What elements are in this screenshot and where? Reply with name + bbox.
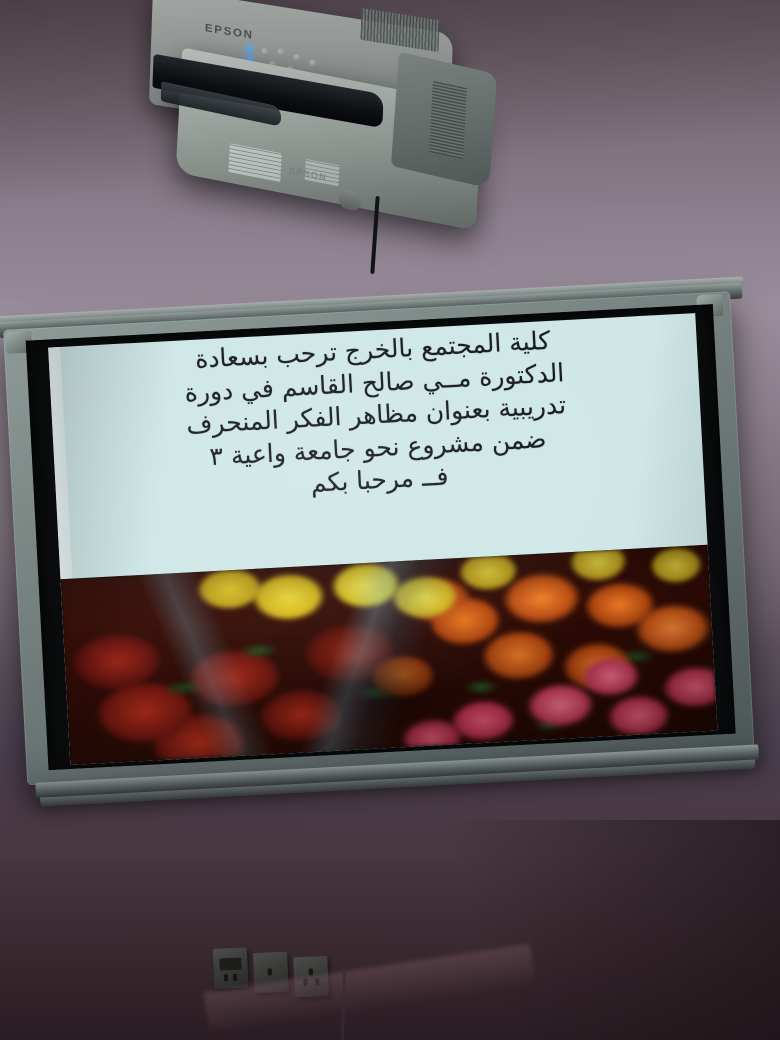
projector-button[interactable] bbox=[309, 59, 317, 68]
interactive-whiteboard[interactable]: كلية المجتمع بالخرج ترحب بسعادة الدكتورة… bbox=[0, 232, 776, 891]
wall-outlet-group bbox=[213, 941, 346, 1009]
projector-vent-side bbox=[429, 81, 467, 159]
switch-pin bbox=[233, 974, 237, 981]
roses-shading-layer bbox=[60, 545, 717, 765]
projector-status-led bbox=[247, 46, 251, 51]
switch-pin bbox=[224, 974, 228, 981]
projector-button[interactable] bbox=[293, 54, 301, 63]
slide-text-block: كلية المجتمع بالخرج ترحب بسعادة الدكتورة… bbox=[66, 318, 686, 513]
whiteboard-surface[interactable]: كلية المجتمع بالخرج ترحب بسعادة الدكتورة… bbox=[26, 304, 736, 770]
classroom-scene: EPSON EPSON bbox=[0, 0, 780, 1040]
switch-rocker[interactable] bbox=[219, 958, 242, 971]
projector-button[interactable] bbox=[277, 48, 285, 57]
epson-projector: EPSON EPSON bbox=[143, 2, 488, 230]
data-port bbox=[268, 968, 272, 975]
wall-switch-plate[interactable] bbox=[213, 947, 249, 988]
projected-slide: كلية المجتمع بالخرج ترحب بسعادة الدكتورة… bbox=[48, 313, 717, 765]
projector-button[interactable] bbox=[261, 47, 269, 56]
socket-earth-pin bbox=[309, 969, 313, 976]
slide-roses-photo bbox=[60, 545, 717, 765]
